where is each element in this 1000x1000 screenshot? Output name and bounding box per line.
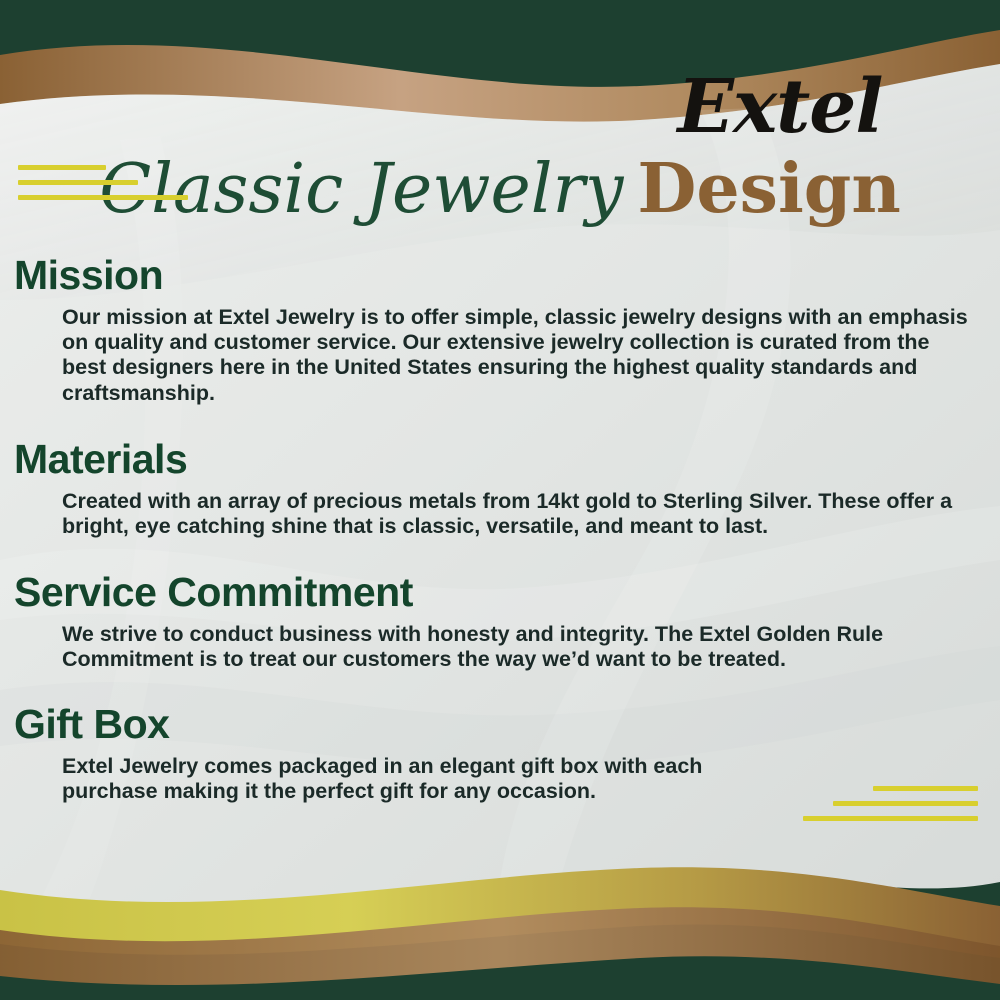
- section-mission: Mission Our mission at Extel Jewelry is …: [14, 252, 986, 406]
- decor-line: [18, 180, 138, 185]
- decor-line: [833, 801, 978, 806]
- section-service-commitment: Service Commitment We strive to conduct …: [14, 569, 986, 672]
- section-materials: Materials Created with an array of preci…: [14, 436, 986, 539]
- decor-lines-bottom-right: [803, 786, 978, 831]
- section-heading: Gift Box: [14, 701, 986, 748]
- decor-line: [803, 816, 978, 821]
- section-body: We strive to conduct business with hones…: [62, 622, 972, 672]
- decor-line: [18, 165, 106, 170]
- section-heading: Mission: [14, 252, 986, 299]
- section-body: Extel Jewelry comes packaged in an elega…: [62, 754, 762, 804]
- section-heading: Service Commitment: [14, 569, 986, 616]
- section-body: Created with an array of precious metals…: [62, 489, 972, 539]
- decor-lines-top-left: [18, 165, 188, 210]
- brand-wordmark: Extel: [600, 70, 960, 144]
- section-heading: Materials: [14, 436, 986, 483]
- poster-content: Extel Classic JewelryDesign Mission Our …: [0, 0, 1000, 1000]
- sections-list: Mission Our mission at Extel Jewelry is …: [14, 252, 986, 810]
- section-body: Our mission at Extel Jewelry is to offer…: [62, 305, 972, 406]
- decor-line: [18, 195, 188, 200]
- title-secondary: Design: [637, 149, 900, 229]
- decor-line: [873, 786, 978, 791]
